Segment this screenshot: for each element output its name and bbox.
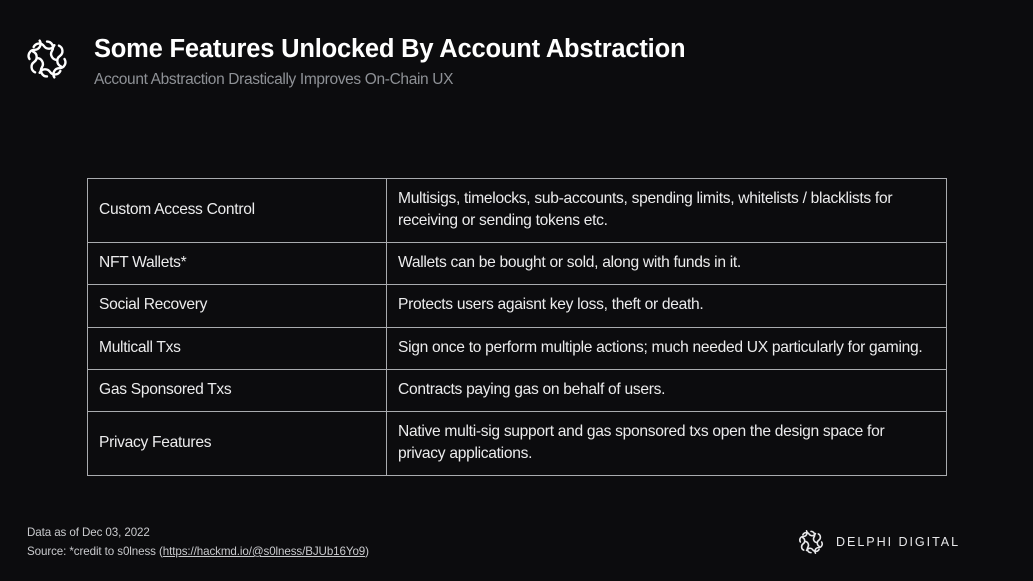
- page-subtitle: Account Abstraction Drastically Improves…: [94, 71, 685, 90]
- source-line: Source: *credit to s0lness (https://hack…: [27, 542, 369, 561]
- delphi-knot-logo-icon: [797, 528, 825, 556]
- data-as-of-label: Data as of Dec 03, 2022: [27, 523, 369, 542]
- feature-name-cell: NFT Wallets*: [88, 243, 387, 285]
- feature-description-cell: Native multi-sig support and gas sponsor…: [387, 411, 947, 475]
- header-text-group: Some Features Unlocked By Account Abstra…: [94, 33, 685, 89]
- feature-name-cell: Gas Sponsored Txs: [88, 369, 387, 411]
- feature-name-cell: Custom Access Control: [88, 179, 387, 243]
- source-link[interactable]: https://hackmd.io/@s0lness/BJUb16Yo9: [163, 545, 365, 558]
- table-row: Privacy Features Native multi-sig suppor…: [88, 411, 947, 475]
- wordmark-text: DELPHI DIGITAL: [836, 535, 960, 549]
- features-table: Custom Access Control Multisigs, timeloc…: [87, 178, 947, 476]
- feature-description-cell: Protects users agaisnt key loss, theft o…: [387, 285, 947, 327]
- slide-header: Some Features Unlocked By Account Abstra…: [24, 33, 685, 89]
- source-label: Source: *credit to s0lness: [27, 545, 156, 558]
- delphi-knot-logo-icon: [24, 36, 70, 82]
- feature-description-cell: Wallets can be bought or sold, along wit…: [387, 243, 947, 285]
- table-row: Multicall Txs Sign once to perform multi…: [88, 327, 947, 369]
- source-close-paren: ): [365, 545, 369, 558]
- table-row: Gas Sponsored Txs Contracts paying gas o…: [88, 369, 947, 411]
- feature-description-cell: Contracts paying gas on behalf of users.: [387, 369, 947, 411]
- feature-name-cell: Privacy Features: [88, 411, 387, 475]
- feature-description-cell: Sign once to perform multiple actions; m…: [387, 327, 947, 369]
- page-title: Some Features Unlocked By Account Abstra…: [94, 35, 685, 64]
- table-row: NFT Wallets* Wallets can be bought or so…: [88, 243, 947, 285]
- feature-description-cell: Multisigs, timelocks, sub-accounts, spen…: [387, 179, 947, 243]
- feature-name-cell: Social Recovery: [88, 285, 387, 327]
- feature-name-cell: Multicall Txs: [88, 327, 387, 369]
- table-row: Social Recovery Protects users agaisnt k…: [88, 285, 947, 327]
- brand-lockup: DELPHI DIGITAL: [797, 528, 1007, 556]
- slide-canvas: Some Features Unlocked By Account Abstra…: [0, 0, 1033, 581]
- slide-footer: Data as of Dec 03, 2022 Source: *credit …: [27, 523, 369, 561]
- table-row: Custom Access Control Multisigs, timeloc…: [88, 179, 947, 243]
- delphi-digital-wordmark: DELPHI DIGITAL: [836, 534, 1007, 550]
